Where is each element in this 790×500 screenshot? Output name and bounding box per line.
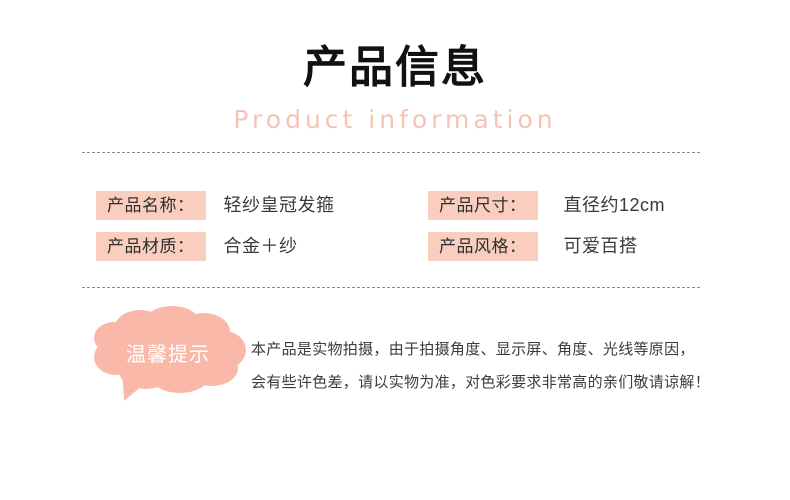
divider-top [82, 152, 700, 153]
page-title: 产品信息 [0, 42, 790, 94]
divider-bottom [82, 287, 700, 288]
spec-row: 产品尺寸： 直径约12cm [428, 191, 665, 220]
notice-line: 本产品是实物拍摄，由于拍摄角度、显示屏、角度、光线等原因， [251, 333, 721, 366]
spec-label-product-material: 产品材质： [96, 232, 206, 261]
spec-value-product-style: 可爱百搭 [564, 232, 638, 261]
spec-row: 产品名称： 轻纱皇冠发箍 [96, 191, 335, 220]
notice-badge: 温馨提示 [88, 305, 248, 405]
notice-text: 本产品是实物拍摄，由于拍摄角度、显示屏、角度、光线等原因， 会有些许色差，请以实… [251, 333, 721, 399]
spec-label-product-name: 产品名称： [96, 191, 206, 220]
spec-value-product-size: 直径约12cm [564, 191, 666, 220]
spec-row: 产品材质： 合金＋纱 [96, 232, 298, 261]
spec-value-product-material: 合金＋纱 [224, 232, 298, 261]
notice-line: 会有些许色差，请以实物为准，对色彩要求非常高的亲们敬请谅解！ [251, 366, 721, 399]
spec-label-product-size: 产品尺寸： [428, 191, 538, 220]
spec-value-product-name: 轻纱皇冠发箍 [224, 191, 335, 220]
cloud-bubble-icon [88, 305, 248, 405]
page-subtitle: Product information [0, 104, 790, 136]
spec-row: 产品风格： 可爱百搭 [428, 232, 638, 261]
spec-label-product-style: 产品风格： [428, 232, 538, 261]
notice-section: 温馨提示 本产品是实物拍摄，由于拍摄角度、显示屏、角度、光线等原因， 会有些许色… [0, 305, 790, 415]
